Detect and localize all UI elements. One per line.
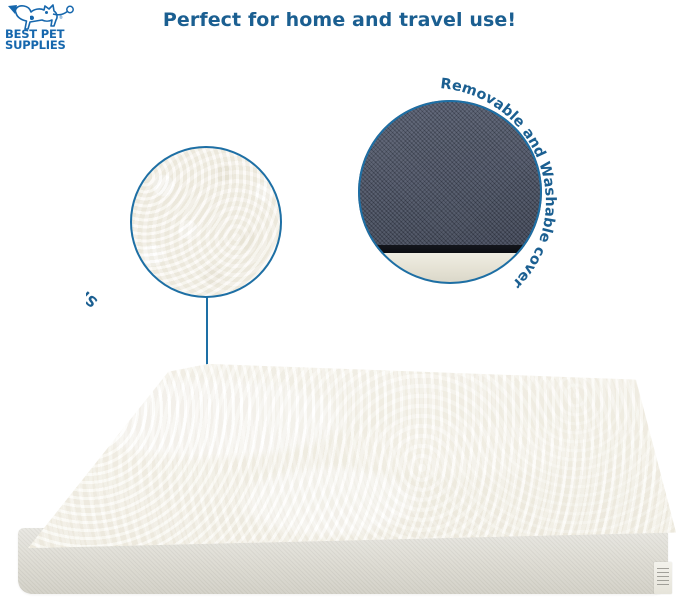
washable-cover-fabric-icon [358,100,542,247]
tag-text-lines [657,568,669,588]
brand-fabric-tag-icon [654,562,672,594]
page-headline: Perfect for home and travel use! [0,9,679,31]
sherpa-fleece-texture-icon [130,146,282,298]
product-feature-image: ® BEST PET SUPPLIES Perfect for home and… [0,0,679,607]
product-pet-bed [8,360,676,600]
brand-name: BEST PET SUPPLIES [5,29,79,51]
callout-fleece-label-text: Sherpa Fleece top [86,162,101,310]
svg-text:Sherpa Fleece top: Sherpa Fleece top [86,162,101,310]
bed-fleece-texture-icon [8,360,676,556]
foam-base-icon [358,253,542,284]
bed-top-fleece [8,360,676,556]
callout-fleece-closeup [130,146,282,298]
brand-name-line2: SUPPLIES [5,40,79,51]
callout-cover-closeup [358,100,542,284]
